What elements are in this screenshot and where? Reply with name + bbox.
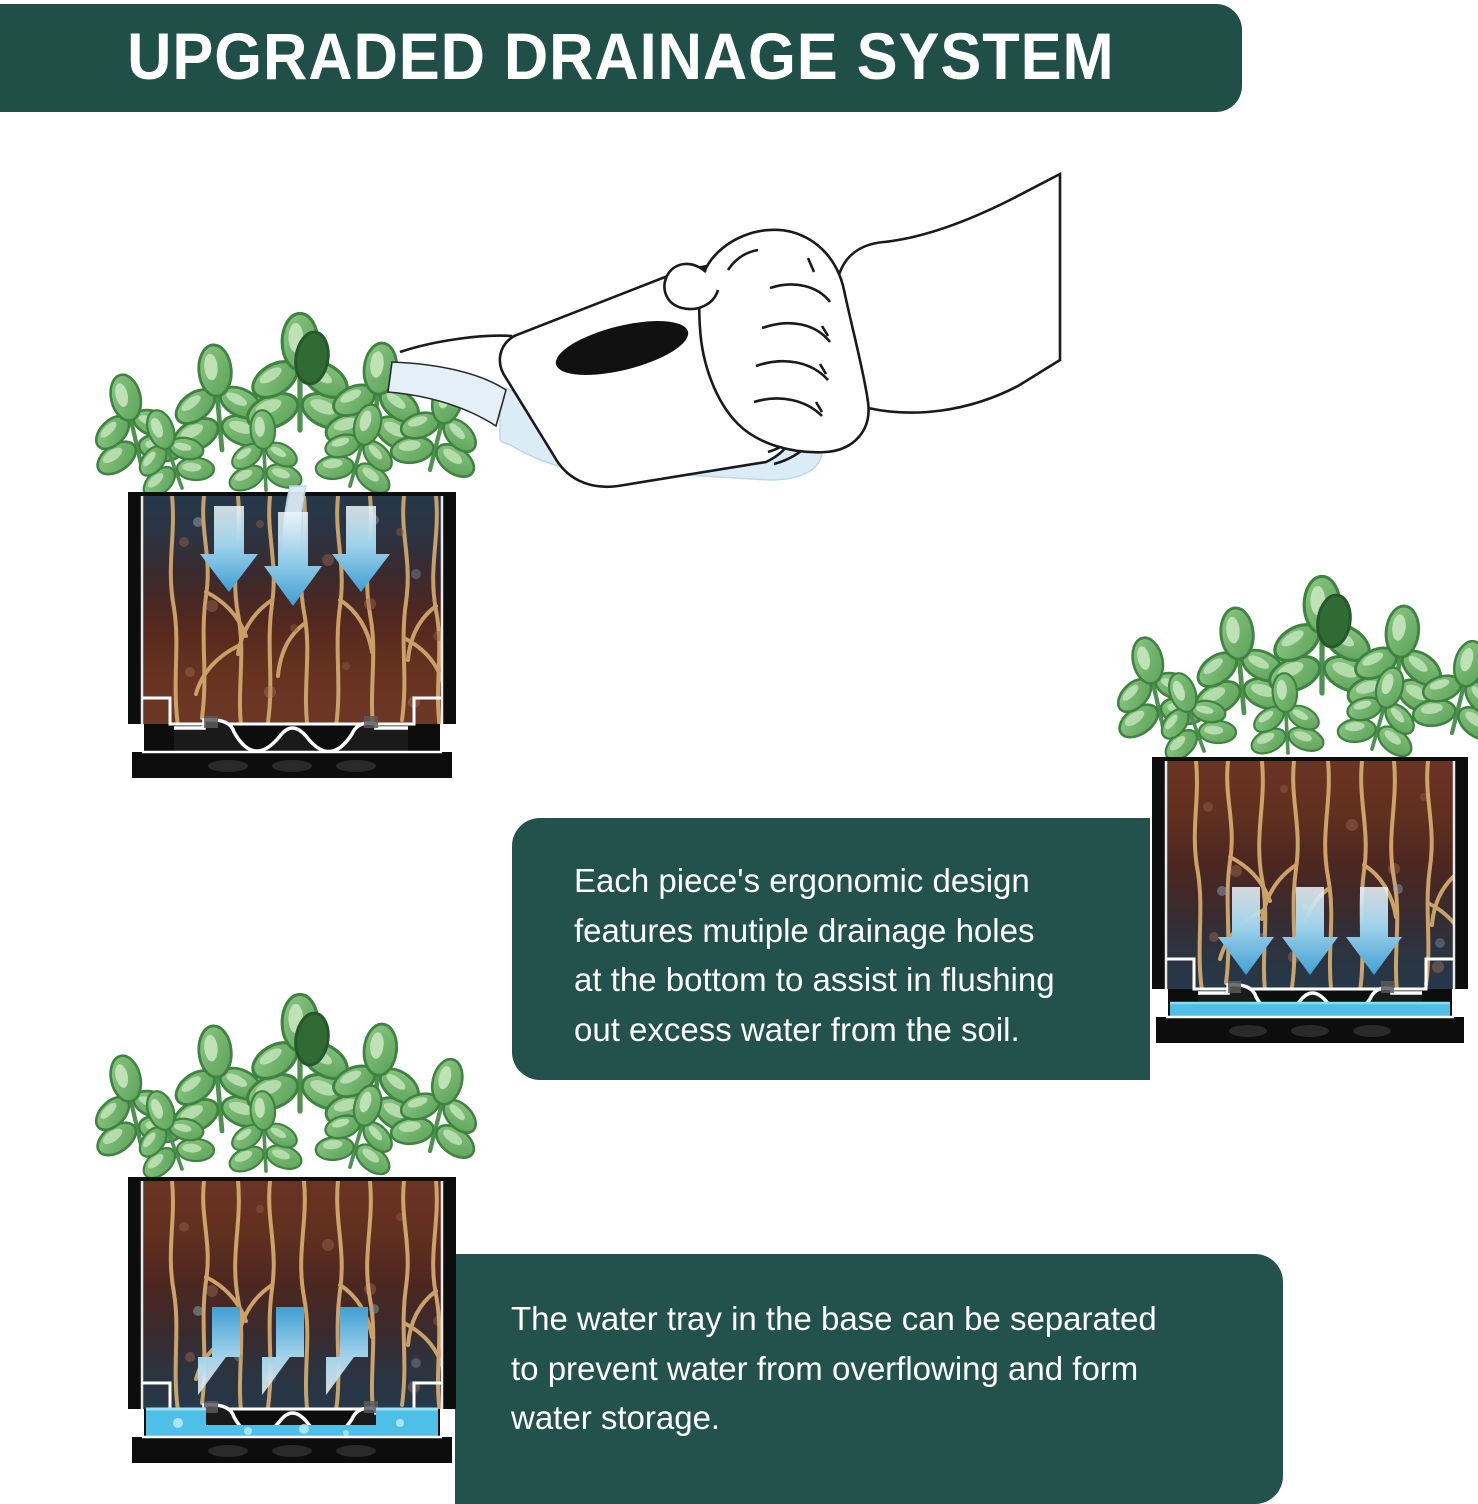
callout-drainage-holes-text: Each piece's ergonomic design features m… xyxy=(512,818,1150,1054)
planter-water-storage xyxy=(108,985,476,1500)
hand-pouring-watering-can xyxy=(470,150,1060,580)
callout-water-tray-text: The water tray in the base can be separa… xyxy=(455,1254,1283,1443)
water-direction-arrows-down xyxy=(200,506,390,606)
callout-water-tray: The water tray in the base can be separa… xyxy=(455,1254,1283,1504)
plant-foliage xyxy=(1097,576,1478,768)
callout-drainage-holes: Each piece's ergonomic design features m… xyxy=(512,818,1150,1080)
page-title: UPGRADED DRAINAGE SYSTEM xyxy=(127,23,1114,93)
plant-foliage xyxy=(75,994,498,1186)
planter-draining xyxy=(1138,565,1478,1090)
tray-water-level-partial xyxy=(1170,1003,1450,1017)
water-direction-arrows-down xyxy=(1218,887,1402,975)
header-banner: UPGRADED DRAINAGE SYSTEM xyxy=(0,4,1242,112)
infographic-canvas: UPGRADED DRAINAGE SYSTEM Each piece's er… xyxy=(0,0,1478,1500)
